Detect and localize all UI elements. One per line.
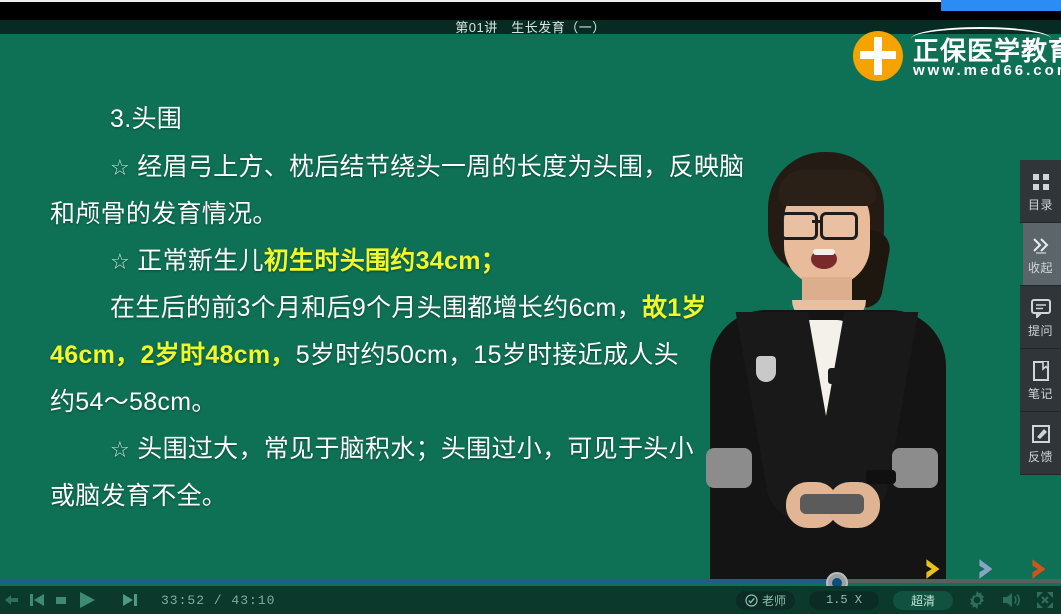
slide-line-5: 46cm，2岁时48cm，5岁时约50cm，15岁时接近成人头 [50,332,679,379]
slide-line-1-text: 经眉弓上方、枕后结节绕头一周的长度为头围，反映脑 [137,153,744,181]
top-blue-bar [941,0,1061,11]
speech-bubble-icon [1030,296,1052,320]
sidebar-item-collapse[interactable]: 收起 [1020,223,1061,286]
slide-line-8: 或脑发育不全。 [50,473,227,520]
chevron-orange-icon [1027,556,1053,582]
slide-line-4-plain: 在生后的前3个月和后9个月头围都增长约6cm， [110,294,642,322]
slide-area: 3.头围 ☆ 经眉弓上方、枕后结节绕头一周的长度为头围，反映脑 和颅骨的发育情况… [0,34,1061,579]
previous-track-icon[interactable] [29,592,45,608]
teacher-toggle-button[interactable]: 老师 [736,591,795,610]
time-display: 33:52 / 43:10 [161,593,275,608]
edit-pencil-icon [1030,422,1052,446]
star-bullet-icon: ☆ [110,249,130,274]
note-icon [1031,359,1051,383]
speed-button[interactable]: 1.5 X [809,591,879,610]
sidebar-item-feedback-label: 反馈 [1028,448,1053,465]
player-controls-left: 33:52 / 43:10 [4,586,275,614]
slide-line-6: 约54～58cm。 [50,379,217,426]
chevron-decoration-row [921,554,1053,584]
slide-heading: 3.头围 [110,96,182,143]
lecture-title: 第01讲 生长发育（一） [0,18,1061,38]
slide-line-3-highlight: 初生时头围约34cm； [264,247,506,275]
settings-gear-icon[interactable] [967,590,987,610]
slide-line-3: ☆ 正常新生儿初生时头围约34cm； [110,238,506,285]
slide-line-5-highlight: 46cm，2岁时48cm， [50,341,296,369]
medical-cross-icon [853,31,903,81]
chevron-yellow-icon [921,556,947,582]
check-circle-icon [745,594,758,607]
quality-button[interactable]: 超清 [893,591,953,610]
fullscreen-icon[interactable] [1035,590,1055,610]
slide-line-7: ☆ 头围过大，常见于脑积水；头围过小，可见于头小 [110,426,694,473]
slide-line-3-plain: 正常新生儿 [137,247,264,275]
progress-bar[interactable] [0,576,1061,586]
sidebar-item-feedback[interactable]: 反馈 [1020,412,1061,475]
chevron-blue-icon [974,556,1000,582]
chevron-right-double-icon [1030,233,1052,257]
stop-icon[interactable] [54,593,68,607]
grid-icon [1033,170,1049,194]
slide-line-5-plain: 5岁时约50cm，15岁时接近成人头 [296,341,679,369]
slide-line-7-text: 头围过大，常见于脑积水；头围过小，可见于头小 [137,435,694,463]
sidebar-item-notes[interactable]: 笔记 [1020,349,1061,412]
teacher-label: 老师 [762,592,786,609]
slide-line-4: 在生后的前3个月和后9个月头围都增长约6cm，故1岁 [110,285,707,332]
play-icon[interactable] [77,591,97,609]
back-arrow-icon[interactable] [4,593,20,607]
sidebar-item-catalog-label: 目录 [1028,196,1053,213]
right-sidebar: 目录 收起 提问 [1020,160,1061,475]
glasses-icon [780,212,818,240]
logo-url-text: www.med66.com [913,62,1061,79]
progress-fill [0,579,838,583]
player-controls-right: 老师 1.5 X 超清 [736,586,1055,614]
sidebar-item-collapse-label: 收起 [1028,259,1053,276]
player-control-bar: 33:52 / 43:10 老师 1.5 X 超清 [0,586,1061,614]
next-track-icon[interactable] [122,592,138,608]
sidebar-item-ask[interactable]: 提问 [1020,286,1061,349]
slide-line-1: ☆ 经眉弓上方、枕后结节绕头一周的长度为头围，反映脑 [110,144,744,191]
video-player-page: 第01讲 生长发育（一） 3.头围 ☆ 经眉弓上方、枕后结节绕头一周的长度为头围… [0,0,1061,614]
presenter-video-figure [680,152,980,579]
sidebar-item-catalog[interactable]: 目录 [1020,160,1061,223]
volume-icon[interactable] [1001,591,1021,609]
star-bullet-icon: ☆ [110,155,130,180]
sidebar-item-notes-label: 笔记 [1028,385,1053,402]
star-bullet-icon: ☆ [110,437,130,462]
sidebar-item-ask-label: 提问 [1028,322,1053,339]
slide-line-2: 和颅骨的发育情况。 [50,191,278,238]
